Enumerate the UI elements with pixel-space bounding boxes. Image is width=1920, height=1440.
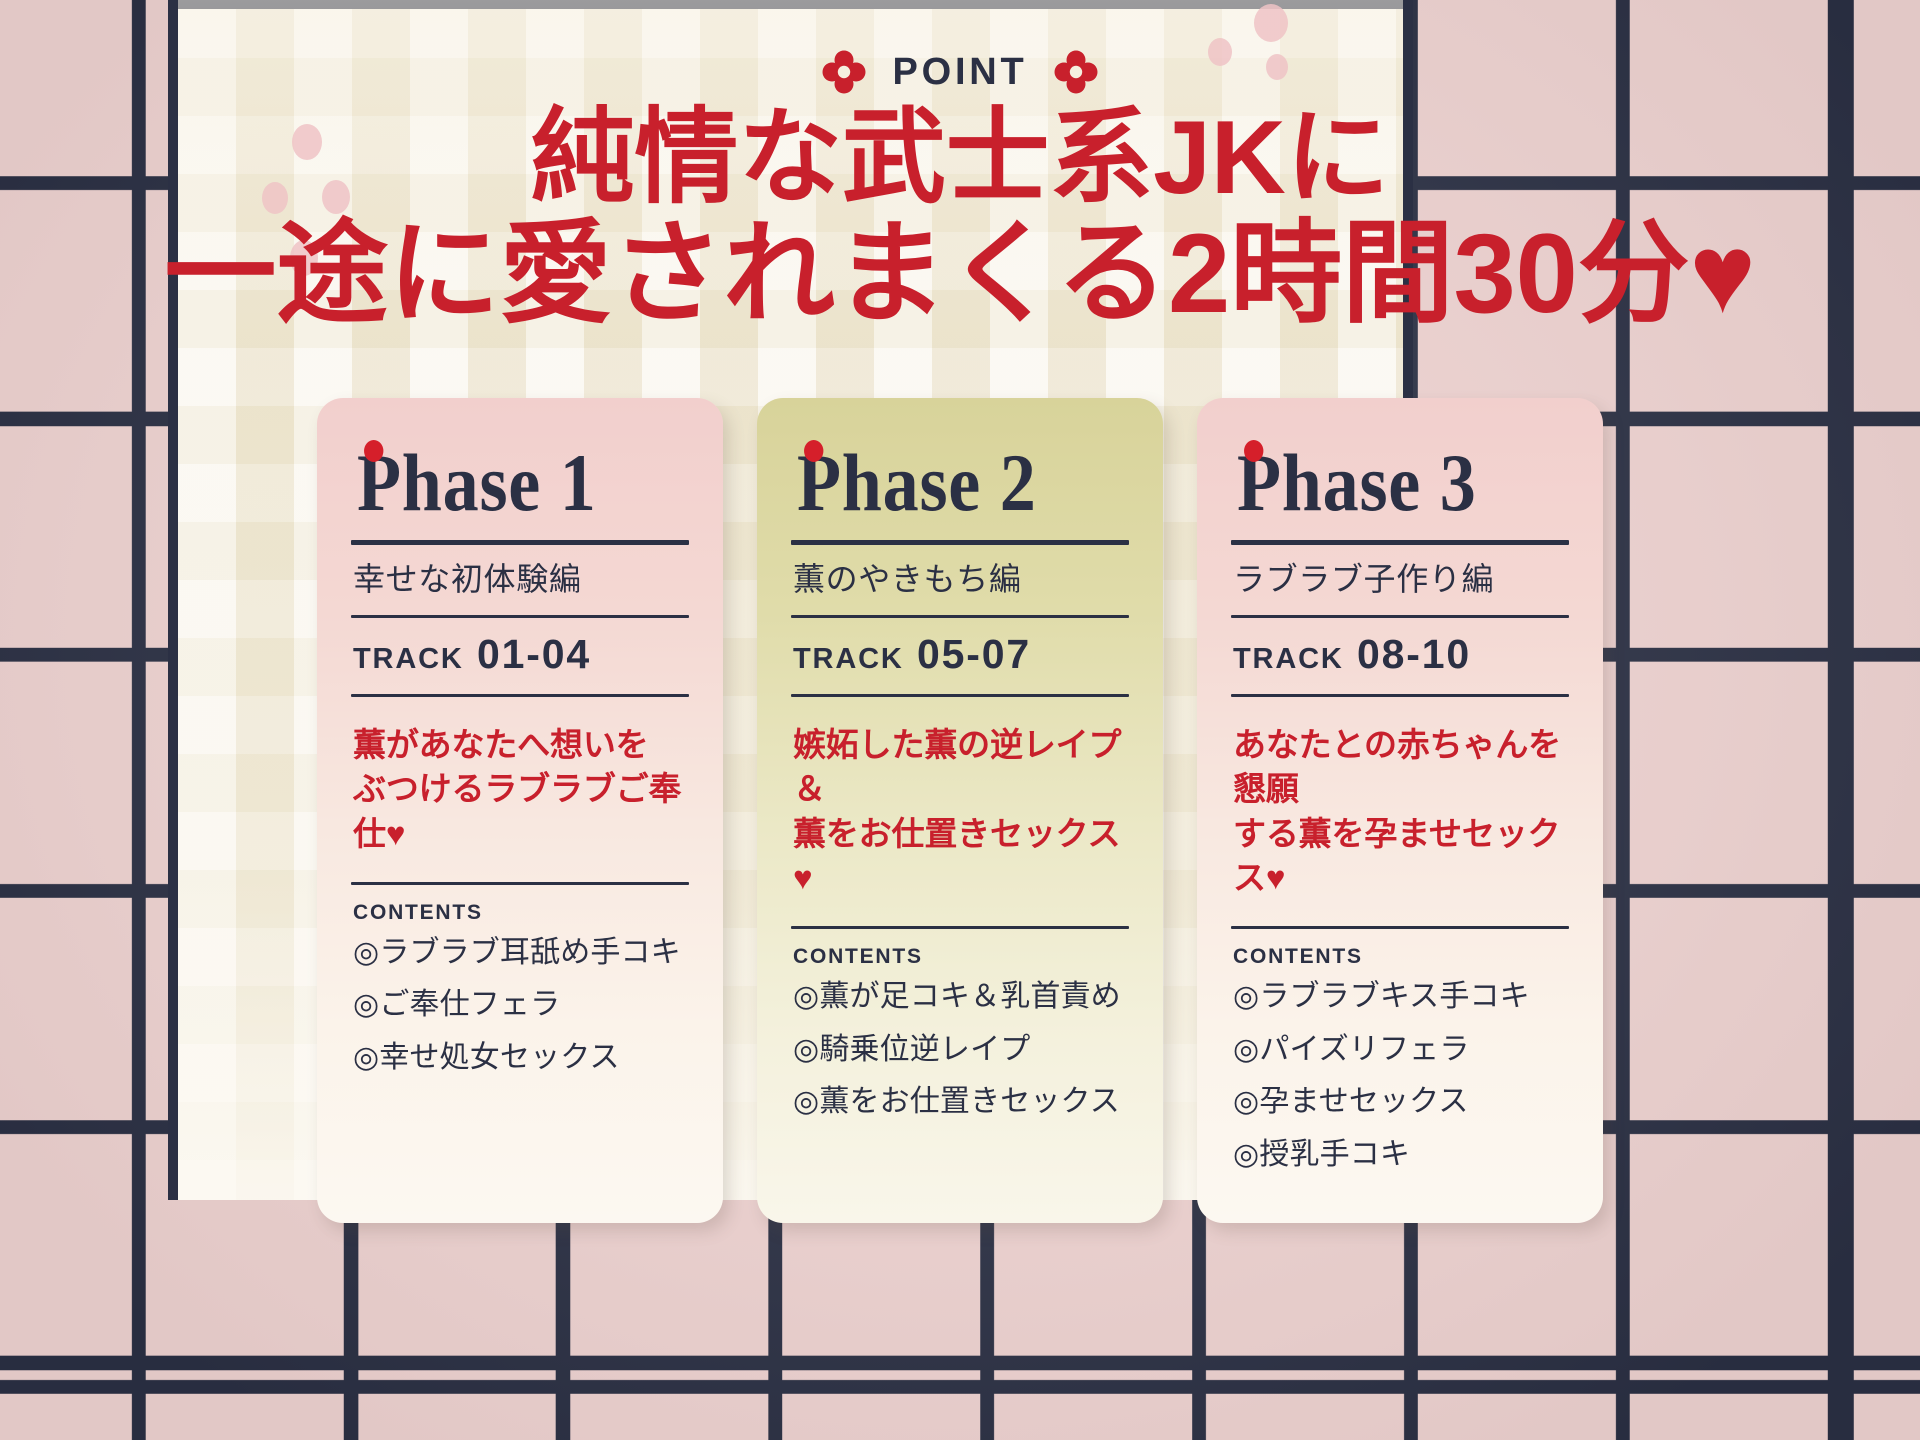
divider (791, 615, 1129, 618)
list-item: ◎薫をお仕置きセックス (793, 1084, 1129, 1121)
phase-title-text: Phase 3 (1237, 437, 1477, 528)
contents-label: CONTENTS (1233, 945, 1569, 969)
phase-subtitle: 幸せな初体験編 (353, 562, 689, 597)
contents-label: CONTENTS (793, 945, 1129, 969)
headline: 純情な武士系JKに 一途に愛されまくる2時間30分♥ (0, 104, 1920, 333)
contents-label: CONTENTS (353, 901, 689, 925)
list-item: ◎パイズリフェラ (1233, 1032, 1569, 1069)
divider (351, 882, 689, 885)
list-item: ◎ラブラブキス手コキ (1233, 979, 1569, 1016)
phase-title: Phase 2 (797, 444, 1089, 522)
phase-description-line-1: あなたとの赤ちゃんを懇願 (1233, 726, 1561, 807)
phase-track-range: Track 01-04 (353, 633, 689, 676)
phase-description: 嫉妬した薫の逆レイプ＆ 薫をお仕置きセックス♥ (793, 723, 1129, 900)
phase-description-line-2: ぶつけるラブラブご奉仕♥ (353, 770, 681, 851)
contents-list: ◎薫が足コキ＆乳首責め ◎騎乗位逆レイプ ◎薫をお仕置きセックス (791, 979, 1129, 1121)
phase-subtitle: 薫のやきもち編 (793, 562, 1129, 597)
phase-description-line-2: 薫をお仕置きセックス♥ (793, 815, 1120, 896)
phase-title: Phase 3 (1237, 444, 1529, 522)
divider (351, 694, 689, 697)
promo-graphic-root: POINT 純情な武士系JKに 一途に愛されまくる2時間30分♥ (0, 0, 1920, 1440)
headline-line-1: 純情な武士系JKに (0, 104, 1920, 212)
plum-flower-icon (822, 50, 866, 94)
headline-line-2: 一途に愛されまくる2時間30分♥ (0, 216, 1920, 332)
panel-top-border (168, 0, 1413, 9)
list-item: ◎授乳手コキ (1233, 1137, 1569, 1174)
divider (791, 926, 1129, 929)
phase-bullet-dot (1244, 440, 1263, 462)
phase-bullet-dot (364, 440, 383, 462)
contents-list: ◎ラブラブ耳舐め手コキ ◎ご奉仕フェラ ◎幸せ処女セックス (351, 935, 689, 1077)
phase-title: Phase 1 (357, 444, 649, 522)
phase-track-range: Track 08-10 (1233, 633, 1569, 676)
contents-list: ◎ラブラブキス手コキ ◎パイズリフェラ ◎孕ませセックス ◎授乳手コキ (1231, 979, 1569, 1173)
phase-title-text: Phase 2 (797, 437, 1037, 528)
divider (1231, 694, 1569, 697)
divider (791, 694, 1129, 697)
phase-description-line-1: 嫉妬した薫の逆レイプ＆ (793, 726, 1121, 807)
divider (351, 540, 689, 545)
phase-card-list: Phase 1 幸せな初体験編 Track 01-04 薫があなたへ想いを ぶつ… (0, 398, 1920, 1223)
divider (1231, 926, 1569, 929)
plum-flower-icon (1054, 50, 1098, 94)
divider (791, 540, 1129, 545)
phase-card[interactable]: Phase 1 幸せな初体験編 Track 01-04 薫があなたへ想いを ぶつ… (317, 398, 723, 1223)
divider (1231, 540, 1569, 545)
list-item: ◎薫が足コキ＆乳首責め (793, 979, 1129, 1016)
phase-description-line-2: する薫を孕ませセックス♥ (1233, 815, 1560, 896)
list-item: ◎騎乗位逆レイプ (793, 1032, 1129, 1069)
phase-card[interactable]: Phase 3 ラブラブ子作り編 Track 08-10 あなたとの赤ちゃんを懇… (1197, 398, 1603, 1223)
divider (1231, 615, 1569, 618)
phase-title-text: Phase 1 (357, 437, 597, 528)
list-item: ◎ご奉仕フェラ (353, 987, 689, 1024)
phase-subtitle: ラブラブ子作り編 (1233, 562, 1569, 597)
phase-card[interactable]: Phase 2 薫のやきもち編 Track 05-07 嫉妬した薫の逆レイプ＆ … (757, 398, 1163, 1223)
phase-description: 薫があなたへ想いを ぶつけるラブラブご奉仕♥ (353, 723, 689, 856)
phase-track-range: Track 05-07 (793, 633, 1129, 676)
divider (351, 615, 689, 618)
list-item: ◎孕ませセックス (1233, 1084, 1569, 1121)
point-header: POINT (0, 50, 1920, 94)
phase-description: あなたとの赤ちゃんを懇願 する薫を孕ませセックス♥ (1233, 723, 1569, 900)
phase-bullet-dot (804, 440, 823, 462)
phase-description-line-1: 薫があなたへ想いを (353, 726, 649, 763)
list-item: ◎ラブラブ耳舐め手コキ (353, 935, 689, 972)
point-label: POINT (892, 53, 1027, 91)
list-item: ◎幸せ処女セックス (353, 1040, 689, 1077)
